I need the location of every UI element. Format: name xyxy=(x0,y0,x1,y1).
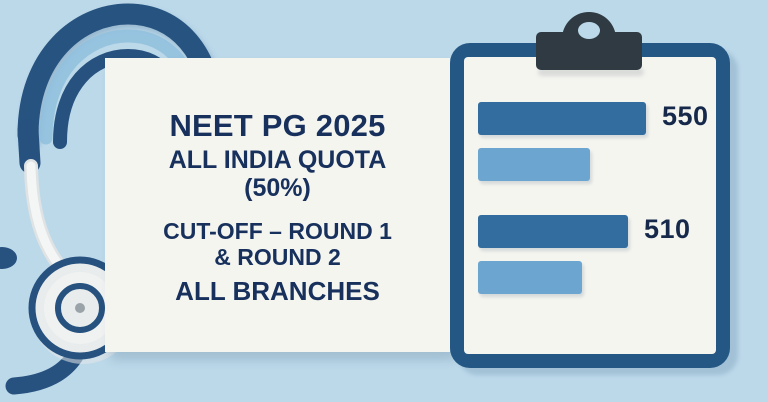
poster-branches-line: ALL BRANCHES xyxy=(175,277,380,306)
poster-round-line2: & ROUND 2 xyxy=(214,244,341,270)
chart-bar xyxy=(478,148,590,181)
poster-subtitle-line1: ALL INDIA QUOTA xyxy=(169,146,387,174)
chart-bar-value-label: 550 xyxy=(662,101,709,132)
info-card: NEET PG 2025 ALL INDIA QUOTA (50%) CUT-O… xyxy=(105,58,450,352)
poster-title: NEET PG 2025 xyxy=(169,109,385,142)
bar-chart: 550510 xyxy=(478,102,718,312)
chart-bar xyxy=(478,261,582,294)
poster-subtitle-line2: (50%) xyxy=(244,174,311,202)
clipboard-clip-hole-icon xyxy=(578,22,600,39)
chart-bar-value-label: 510 xyxy=(644,214,691,245)
poster-round-line1: CUT-OFF – ROUND 1 xyxy=(163,218,392,244)
chart-bar xyxy=(478,102,646,135)
chart-bar xyxy=(478,215,628,248)
poster-canvas: NEET PG 2025 ALL INDIA QUOTA (50%) CUT-O… xyxy=(0,0,768,402)
info-card-text-block: NEET PG 2025 ALL INDIA QUOTA (50%) CUT-O… xyxy=(105,58,450,352)
